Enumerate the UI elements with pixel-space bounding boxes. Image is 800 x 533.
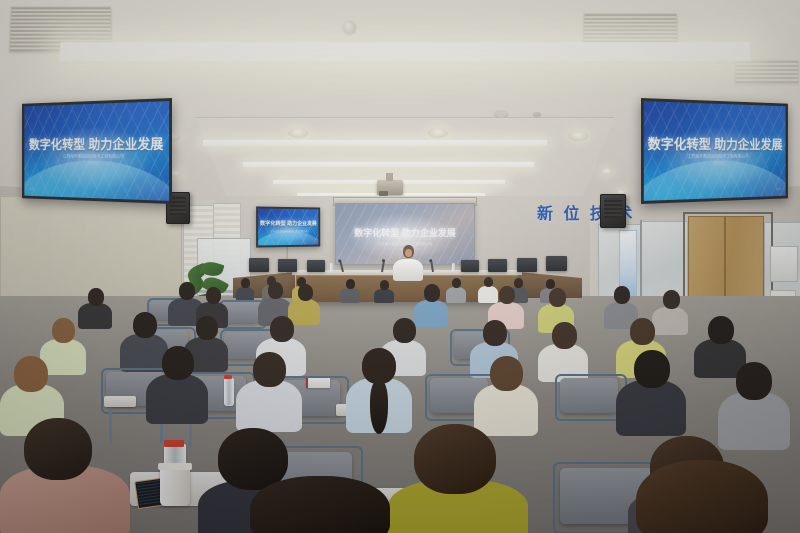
attendee-torso bbox=[340, 288, 360, 303]
attendee-r3-5 bbox=[474, 356, 538, 434]
right-tv-subtitle: 江苏海外集团国际技术工程有限公司 bbox=[644, 154, 786, 160]
wall-speaker-right bbox=[600, 194, 626, 228]
desk-monitor-7 bbox=[546, 256, 567, 271]
desk-monitor-5 bbox=[488, 259, 507, 272]
presenter-torso bbox=[393, 259, 423, 281]
ceiling-light-strip-2 bbox=[203, 140, 547, 146]
desk-monitor-6 bbox=[517, 258, 537, 272]
desk-monitor-1 bbox=[249, 258, 269, 272]
small-monitor-title: 数字化转型 助力企业发展 bbox=[258, 220, 318, 227]
right-tv-corner-label: LIVE bbox=[776, 187, 781, 191]
ceiling-projector bbox=[377, 180, 403, 195]
left-tv-subtitle: 江苏海外集团国际技术工程有限公司 bbox=[24, 154, 169, 160]
attendee-head bbox=[52, 318, 75, 343]
attendee-head bbox=[253, 352, 286, 387]
attendee-head bbox=[133, 312, 157, 338]
attendee-head bbox=[206, 287, 221, 304]
attendee-head bbox=[270, 316, 294, 342]
attendee-far-6 bbox=[446, 278, 466, 302]
attendee-braid bbox=[370, 380, 388, 434]
attendee-r4-7 bbox=[538, 322, 588, 380]
attendee-head bbox=[24, 418, 92, 480]
attendee-far-1 bbox=[236, 278, 254, 300]
presenter bbox=[393, 245, 423, 277]
attendee-head bbox=[424, 284, 440, 302]
attendee-head bbox=[88, 288, 104, 306]
attendee-head bbox=[483, 320, 507, 346]
left-tv-corner-label: LIVE bbox=[29, 187, 34, 191]
projection-title: 数字化转型 助力企业发展 bbox=[336, 226, 474, 239]
attendee-head bbox=[179, 282, 195, 300]
attendee-head bbox=[14, 356, 48, 392]
attendee-head bbox=[380, 280, 389, 290]
left-wall-tv: 数字化转型 助力企业发展 江苏海外集团国际技术工程有限公司 财务部 LIVE bbox=[22, 98, 172, 204]
attendee-r3-4 bbox=[346, 348, 412, 430]
attendee-head bbox=[552, 322, 577, 349]
bottle-cap bbox=[224, 375, 232, 379]
ceiling-light-strip-3 bbox=[243, 162, 534, 167]
smoke-detector-right bbox=[533, 112, 541, 116]
soffit-edge-line bbox=[196, 117, 614, 118]
notebook-on-tablet-arm bbox=[306, 378, 330, 388]
right-tv-title: 数字化转型 助力企业发展 bbox=[644, 134, 786, 154]
attendee-head bbox=[162, 346, 194, 380]
desk-monitor-2 bbox=[278, 259, 297, 272]
attendee-front-left bbox=[240, 476, 420, 533]
downlight-2 bbox=[288, 128, 308, 138]
attendee-head bbox=[452, 278, 461, 288]
attendee-far-4 bbox=[340, 279, 360, 302]
desk-monitor-4 bbox=[461, 260, 479, 272]
coffee-cup bbox=[160, 466, 190, 506]
downlight-4 bbox=[568, 131, 588, 141]
left-tv-title: 数字化转型 助力企业发展 bbox=[24, 134, 169, 154]
attendee-head bbox=[490, 356, 523, 391]
small-monitor-subtitle: 江苏海外集团国际技术工程有限公司 bbox=[258, 229, 318, 233]
attendee-torso bbox=[446, 287, 466, 303]
attendee-front-center bbox=[612, 460, 800, 533]
attendee-head bbox=[268, 282, 283, 299]
attendee-head bbox=[499, 286, 515, 304]
ceiling-soffit bbox=[196, 118, 614, 204]
water-bottle-row3-left bbox=[224, 378, 234, 406]
attendee-head bbox=[663, 290, 680, 309]
desk-water-bottle-1 bbox=[330, 263, 333, 272]
downlight-3 bbox=[428, 128, 448, 138]
desk-monitor-3 bbox=[307, 260, 325, 272]
chair-tablet-arm bbox=[104, 396, 136, 407]
attendee-r3-6 bbox=[616, 350, 686, 434]
attendee-head bbox=[414, 424, 496, 494]
small-wall-monitor: 数字化转型 助力企业发展 江苏海外集团国际技术工程有限公司 bbox=[256, 206, 320, 247]
attendee-head bbox=[250, 476, 390, 533]
attendee-r2-1 bbox=[0, 418, 130, 533]
desk-water-bottle-2 bbox=[452, 263, 455, 272]
attendee-head bbox=[634, 350, 670, 388]
presenter-face bbox=[405, 249, 412, 257]
attendee-r3-2 bbox=[146, 346, 208, 422]
attendee-head bbox=[708, 316, 734, 344]
downlight-6 bbox=[600, 168, 613, 175]
attendee-torso bbox=[146, 374, 208, 424]
attendee-head bbox=[630, 318, 655, 345]
attendee-far-5 bbox=[374, 280, 394, 302]
attendee-head bbox=[636, 460, 768, 533]
attendee-head bbox=[196, 316, 218, 340]
attendee-head bbox=[393, 318, 416, 343]
attendee-head bbox=[549, 288, 566, 307]
coffee-cup-lid bbox=[158, 463, 192, 470]
sprinkler-head bbox=[343, 21, 356, 34]
attendee-head bbox=[346, 279, 355, 289]
attendee-head bbox=[362, 348, 396, 384]
attendee-head bbox=[241, 278, 250, 288]
wall-info-plate bbox=[770, 246, 798, 282]
attendee-r3-3 bbox=[236, 352, 302, 430]
right-wall-tv: 数字化转型 助力企业发展 江苏海外集团国际技术工程有限公司 财务部 LIVE bbox=[641, 98, 788, 204]
ceiling-sensor bbox=[494, 110, 508, 117]
hvac-vent-corner bbox=[735, 60, 799, 84]
ceiling-light-strip-1 bbox=[59, 42, 750, 61]
bottle-cap bbox=[164, 440, 184, 447]
attendee-head bbox=[298, 284, 313, 301]
attendee-torso bbox=[236, 380, 302, 432]
attendee-head bbox=[614, 286, 630, 304]
conference-room-photo: 新 位 技 术 数字化转型 助力企业发展 江苏海外集团国际技术工程有限公司 财务… bbox=[0, 0, 800, 533]
attendee-torso bbox=[374, 289, 394, 303]
attendee-head bbox=[736, 362, 772, 400]
attendee-torso bbox=[616, 380, 686, 436]
